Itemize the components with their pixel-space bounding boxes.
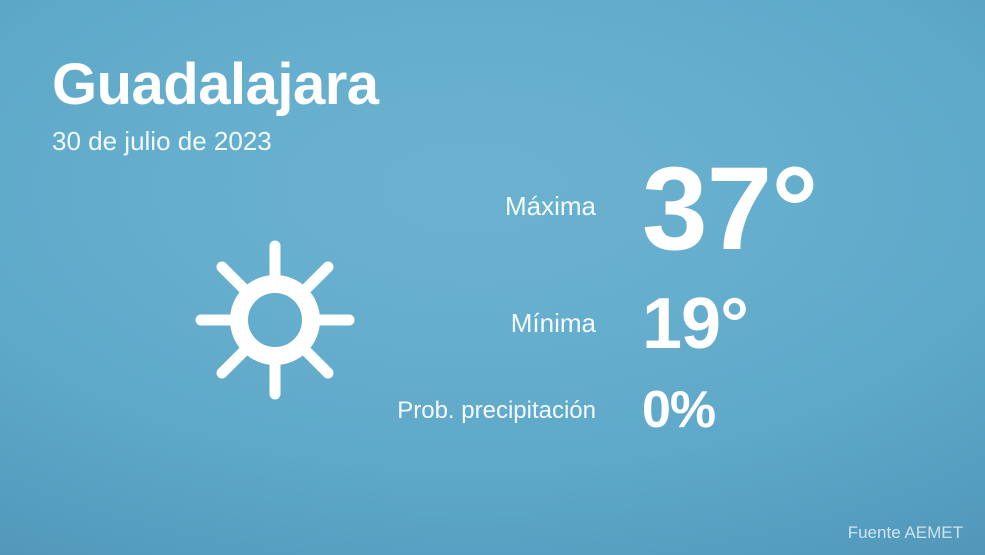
sun-disc-ring [239,284,311,356]
page-title: Guadalajara [52,56,379,114]
reading-label-minima: Mínima [380,308,642,339]
location-header: Guadalajara 30 de julio de 2023 [52,56,379,154]
reading-value-minima: 19° [642,288,748,360]
reading-value-maxima: 37° [642,150,817,268]
reading-row-precipitation: Prob. precipitación 0% [380,384,900,454]
forecast-readings: Máxima 37° Mínima 19° Prob. precipitació… [380,150,900,454]
forecast-date: 30 de julio de 2023 [52,128,379,154]
sun-icon-graphic [155,200,395,440]
reading-label-precipitation: Prob. precipitación [380,397,642,425]
sun-icon [155,200,395,440]
reading-row-maxima: Máxima 37° [380,150,900,288]
reading-label-maxima: Máxima [380,191,642,222]
weather-card: Guadalajara 30 de julio de 2023 [0,0,985,555]
reading-row-minima: Mínima 19° [380,288,900,384]
source-attribution: Fuente AEMET [848,523,963,543]
sun-rays [201,246,349,394]
reading-value-precipitation: 0% [642,384,715,436]
